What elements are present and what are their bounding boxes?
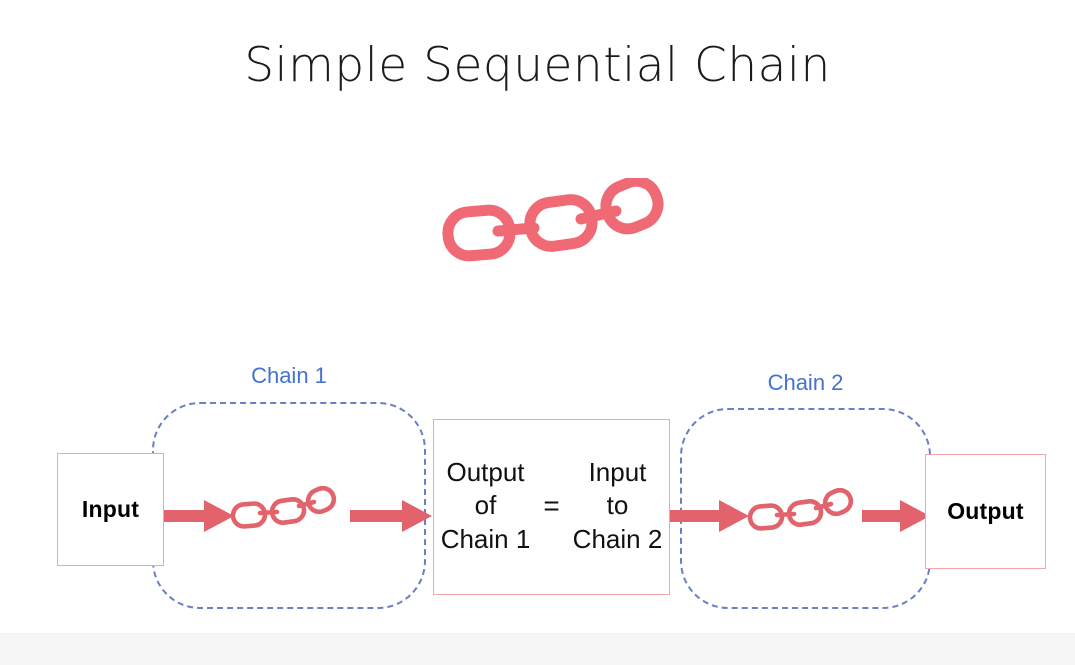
equality-left-column: Output of Chain 1 [441, 456, 531, 555]
page-title: Simple Sequential Chain [0, 38, 1075, 93]
equality-right-line-3: Chain 2 [573, 523, 663, 556]
bottom-strip [0, 633, 1075, 665]
arrow-chain2-to-output [862, 498, 932, 534]
equality-left-line-2: of [475, 489, 497, 522]
equality-left-line-3: Chain 1 [441, 523, 531, 556]
chain-links-icon [746, 488, 854, 536]
chain-links-icon [438, 178, 668, 268]
equality-grid: Output of Chain 1 = Input to Chain 2 [441, 456, 663, 557]
slide-canvas: Simple Sequential Chain Chain 1 Chain 2 … [0, 0, 1075, 664]
equality-right-line-2: to [607, 489, 629, 522]
center-equality-box: Output of Chain 1 = Input to Chain 2 [433, 419, 670, 595]
equality-right-column: Input to Chain 2 [573, 456, 663, 555]
output-box: Output [925, 454, 1046, 569]
arrow-center-to-chain2 [669, 498, 751, 534]
chain-links-icon [229, 486, 337, 534]
chain-1-label: Chain 1 [152, 363, 426, 389]
chain-2-label: Chain 2 [680, 370, 931, 396]
input-box-label: Input [82, 496, 139, 523]
equality-right-line-1: Input [589, 456, 647, 489]
arrow-chain1-to-center [350, 498, 434, 534]
equality-operator: = [539, 490, 563, 522]
arrow-input-to-chain1 [164, 498, 236, 534]
output-box-label: Output [947, 498, 1024, 525]
equality-left-line-1: Output [446, 456, 524, 489]
input-box: Input [57, 453, 164, 566]
